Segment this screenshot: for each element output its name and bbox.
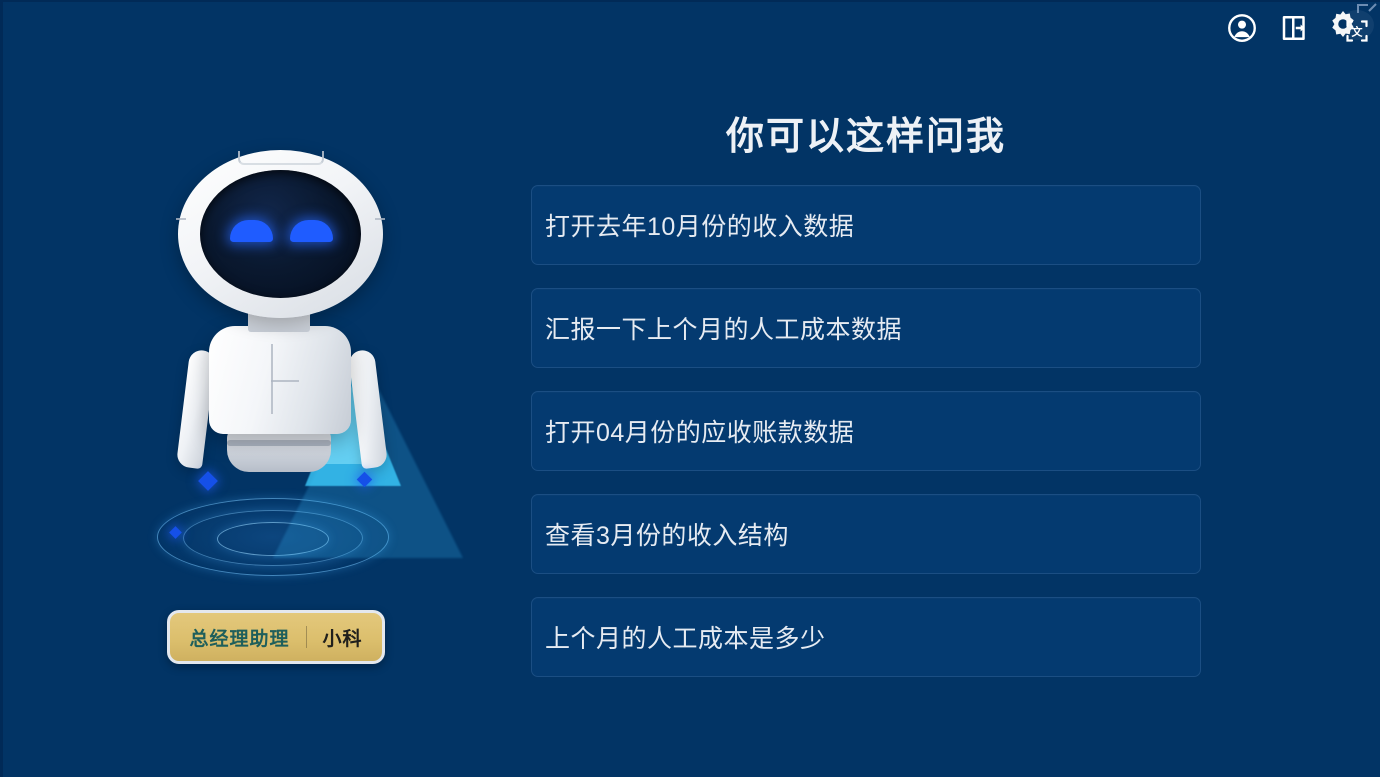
account-icon[interactable] [1224,10,1260,46]
suggestion-item[interactable]: 打开去年10月份的收入数据 [531,185,1201,265]
assistant-home-screen: 文 你可以这样问我 打开去年10月份的收入数据 汇报一下上个月的人工成本数据 打… [0,0,1380,777]
suggestion-item[interactable]: 打开04月份的应收账款数据 [531,391,1201,471]
suggestion-text: 打开去年10月份的收入数据 [545,207,854,243]
robot-waist-band [227,440,331,446]
assistant-name-label: 小科 [323,624,363,651]
logout-icon[interactable] [1276,10,1312,46]
robot-eye-left [230,220,273,242]
svg-text:文: 文 [1352,24,1364,38]
robot-waist [227,428,331,472]
robot-torso-seam [271,344,273,414]
assistant-role-label: 总经理助理 [189,624,289,651]
robot-face-screen [200,170,361,298]
suggestion-item[interactable]: 汇报一下上个月的人工成本数据 [531,288,1201,368]
robot-ear-right [375,218,385,220]
suggestion-list: 打开去年10月份的收入数据 汇报一下上个月的人工成本数据 打开04月份的应收账款… [531,185,1201,700]
suggestion-text: 查看3月份的收入结构 [545,516,789,552]
assistant-name-badge[interactable]: 总经理助理 小科 [167,610,385,664]
suggestion-item[interactable]: 查看3月份的收入结构 [531,494,1201,574]
window-corner-marker [1356,2,1378,22]
window-toolbar: 文 [1224,2,1372,54]
robot-eye-right [290,220,333,242]
robot-ear-left [176,218,186,220]
hologram-diamond [198,471,218,491]
ocr-scan-icon[interactable]: 文 [1345,19,1369,48]
suggestion-text: 汇报一下上个月的人工成本数据 [545,310,902,346]
badge-separator [306,626,307,648]
suggestion-item[interactable]: 上个月的人工成本是多少 [531,597,1201,677]
page-title: 你可以这样问我 [531,105,1201,160]
robot-assistant-avatar [123,132,453,612]
suggestion-text: 上个月的人工成本是多少 [545,619,826,655]
suggestion-text: 打开04月份的应收账款数据 [545,413,854,449]
robot-torso-seam-h [271,380,299,382]
robot-torso [209,326,351,434]
robot-head [178,150,383,318]
robot-head-seam [238,151,324,165]
